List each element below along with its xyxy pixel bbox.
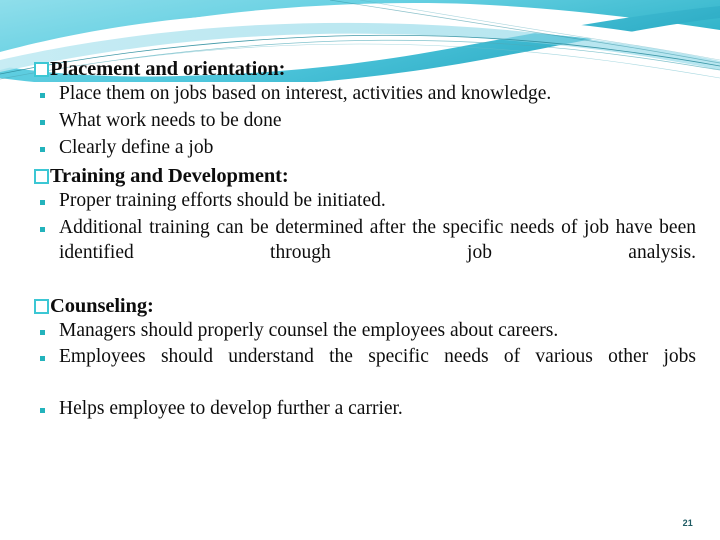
section-heading: Training and Development: bbox=[34, 165, 696, 188]
wave-line-4 bbox=[330, 0, 720, 63]
page-number: 21 bbox=[683, 518, 693, 528]
list-item-text: Place them on jobs based on interest, ac… bbox=[59, 82, 696, 107]
list-item: Helps employee to develop further a carr… bbox=[34, 397, 696, 422]
list-item: Managers should properly counsel the emp… bbox=[34, 319, 696, 344]
section-heading-text: Placement and orientation: bbox=[50, 58, 285, 80]
bullet-dot-icon bbox=[40, 200, 45, 205]
section-heading-text: Training and Development: bbox=[50, 165, 289, 187]
bullet-dot-icon bbox=[40, 227, 45, 232]
list-item-text: Clearly define a job bbox=[59, 136, 696, 161]
bullet-dot-icon bbox=[40, 408, 45, 413]
list-item: Proper training efforts should be initia… bbox=[34, 189, 696, 214]
bullet-dot-icon bbox=[40, 120, 45, 125]
list-item-text: Additional training can be determined af… bbox=[59, 216, 696, 291]
slide-content: Placement and orientation: Place them on… bbox=[0, 58, 720, 498]
list-item-text: Managers should properly counsel the emp… bbox=[59, 319, 696, 344]
bullet-dot-icon bbox=[40, 147, 45, 152]
list-item: Clearly define a job bbox=[34, 136, 696, 161]
list-item: Place them on jobs based on interest, ac… bbox=[34, 82, 696, 107]
list-item-text: Helps employee to develop further a carr… bbox=[59, 397, 696, 422]
list-item-text: Employees should understand the specific… bbox=[59, 345, 696, 395]
list-item-text: What work needs to be done bbox=[59, 109, 696, 134]
bullet-dot-icon bbox=[40, 356, 45, 361]
square-bullet-icon bbox=[34, 62, 49, 77]
list-item: What work needs to be done bbox=[34, 109, 696, 134]
section-heading: Placement and orientation: bbox=[34, 58, 696, 81]
list-item: Employees should understand the specific… bbox=[34, 345, 696, 395]
bullet-dot-icon bbox=[40, 330, 45, 335]
wave-line-5 bbox=[360, 0, 720, 60]
list-item-text: Proper training efforts should be initia… bbox=[59, 189, 696, 214]
section-heading-text: Counseling: bbox=[50, 295, 154, 317]
square-bullet-icon bbox=[34, 169, 49, 184]
section-heading: Counseling: bbox=[34, 295, 696, 318]
list-item: Additional training can be determined af… bbox=[34, 216, 696, 291]
bullet-dot-icon bbox=[40, 93, 45, 98]
square-bullet-icon bbox=[34, 299, 49, 314]
